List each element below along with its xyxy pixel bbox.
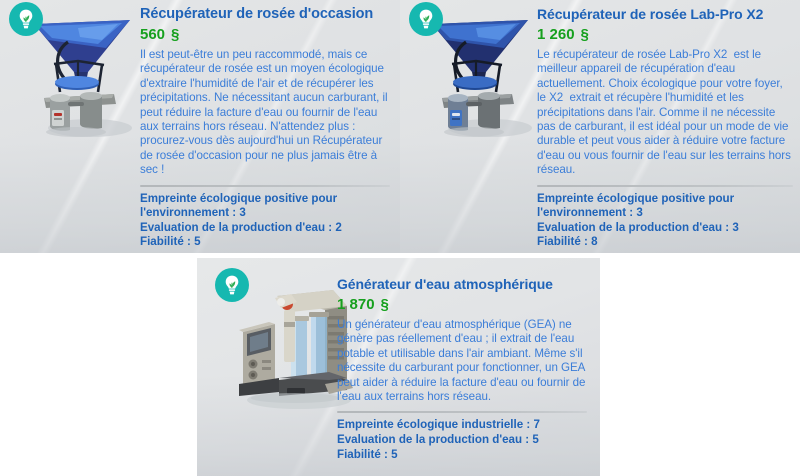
- section-divider: [337, 411, 587, 413]
- stat-water-production: Evaluation de la production d'eau : 5: [337, 433, 587, 448]
- product-card-dew-collector-used[interactable]: Récupérateur de rosée d'occasion 560 § I…: [0, 0, 400, 253]
- product-stats: Empreinte écologique positive pour l'env…: [140, 192, 390, 250]
- product-description: Il est peut-être un peu raccommodé, mais…: [140, 48, 390, 178]
- eco-lightbulb-icon: [409, 2, 443, 36]
- product-price-row: 1 260 §: [537, 26, 793, 44]
- stat-eco-footprint: Empreinte écologique industrielle : 7: [337, 418, 587, 433]
- product-stats: Empreinte écologique industrielle : 7 Ev…: [337, 418, 587, 462]
- stat-reliability: Fiabilité : 5: [337, 448, 587, 463]
- product-stats: Empreinte écologique positive pour l'env…: [537, 192, 793, 250]
- stat-eco-footprint: Empreinte écologique positive pour l'env…: [537, 192, 793, 221]
- product-info: Générateur d'eau atmosphérique 1 870 § U…: [337, 276, 587, 462]
- eco-lightbulb-icon: [9, 2, 43, 36]
- product-price: 560: [140, 26, 165, 44]
- product-description: Un générateur d'eau atmosphérique (GEA) …: [337, 318, 587, 404]
- product-title: Récupérateur de rosée Lab-Pro X2: [537, 6, 793, 23]
- product-price: 1 260: [537, 26, 575, 44]
- product-info: Récupérateur de rosée Lab-Pro X2 1 260 §…: [537, 6, 793, 250]
- section-divider: [140, 185, 390, 187]
- stat-water-production: Evaluation de la production d'eau : 2: [140, 221, 390, 236]
- section-divider: [537, 185, 793, 187]
- stat-reliability: Fiabilité : 5: [140, 235, 390, 250]
- stat-water-production: Evaluation de la production d'eau : 3: [537, 221, 793, 236]
- product-title: Générateur d'eau atmosphérique: [337, 276, 587, 293]
- currency-symbol-icon: §: [381, 296, 389, 314]
- product-card-dew-collector-labpro-x2[interactable]: Récupérateur de rosée Lab-Pro X2 1 260 §…: [400, 0, 800, 253]
- eco-lightbulb-icon: [215, 268, 249, 302]
- stat-reliability: Fiabilité : 8: [537, 235, 793, 250]
- stat-eco-footprint: Empreinte écologique positive pour l'env…: [140, 192, 390, 221]
- product-price: 1 870: [337, 296, 375, 314]
- product-price-row: 560 §: [140, 26, 390, 44]
- product-info: Récupérateur de rosée d'occasion 560 § I…: [140, 6, 390, 250]
- product-description: Le récupérateur de rosée Lab-Pro X2 est …: [537, 48, 793, 178]
- product-card-atmospheric-water-generator[interactable]: Générateur d'eau atmosphérique 1 870 § U…: [197, 258, 600, 476]
- product-price-row: 1 870 §: [337, 296, 587, 314]
- currency-symbol-icon: §: [171, 26, 179, 44]
- currency-symbol-icon: §: [581, 26, 589, 44]
- product-title: Récupérateur de rosée d'occasion: [140, 6, 390, 23]
- product-comparison-screen: Récupérateur de rosée d'occasion 560 § I…: [0, 0, 800, 476]
